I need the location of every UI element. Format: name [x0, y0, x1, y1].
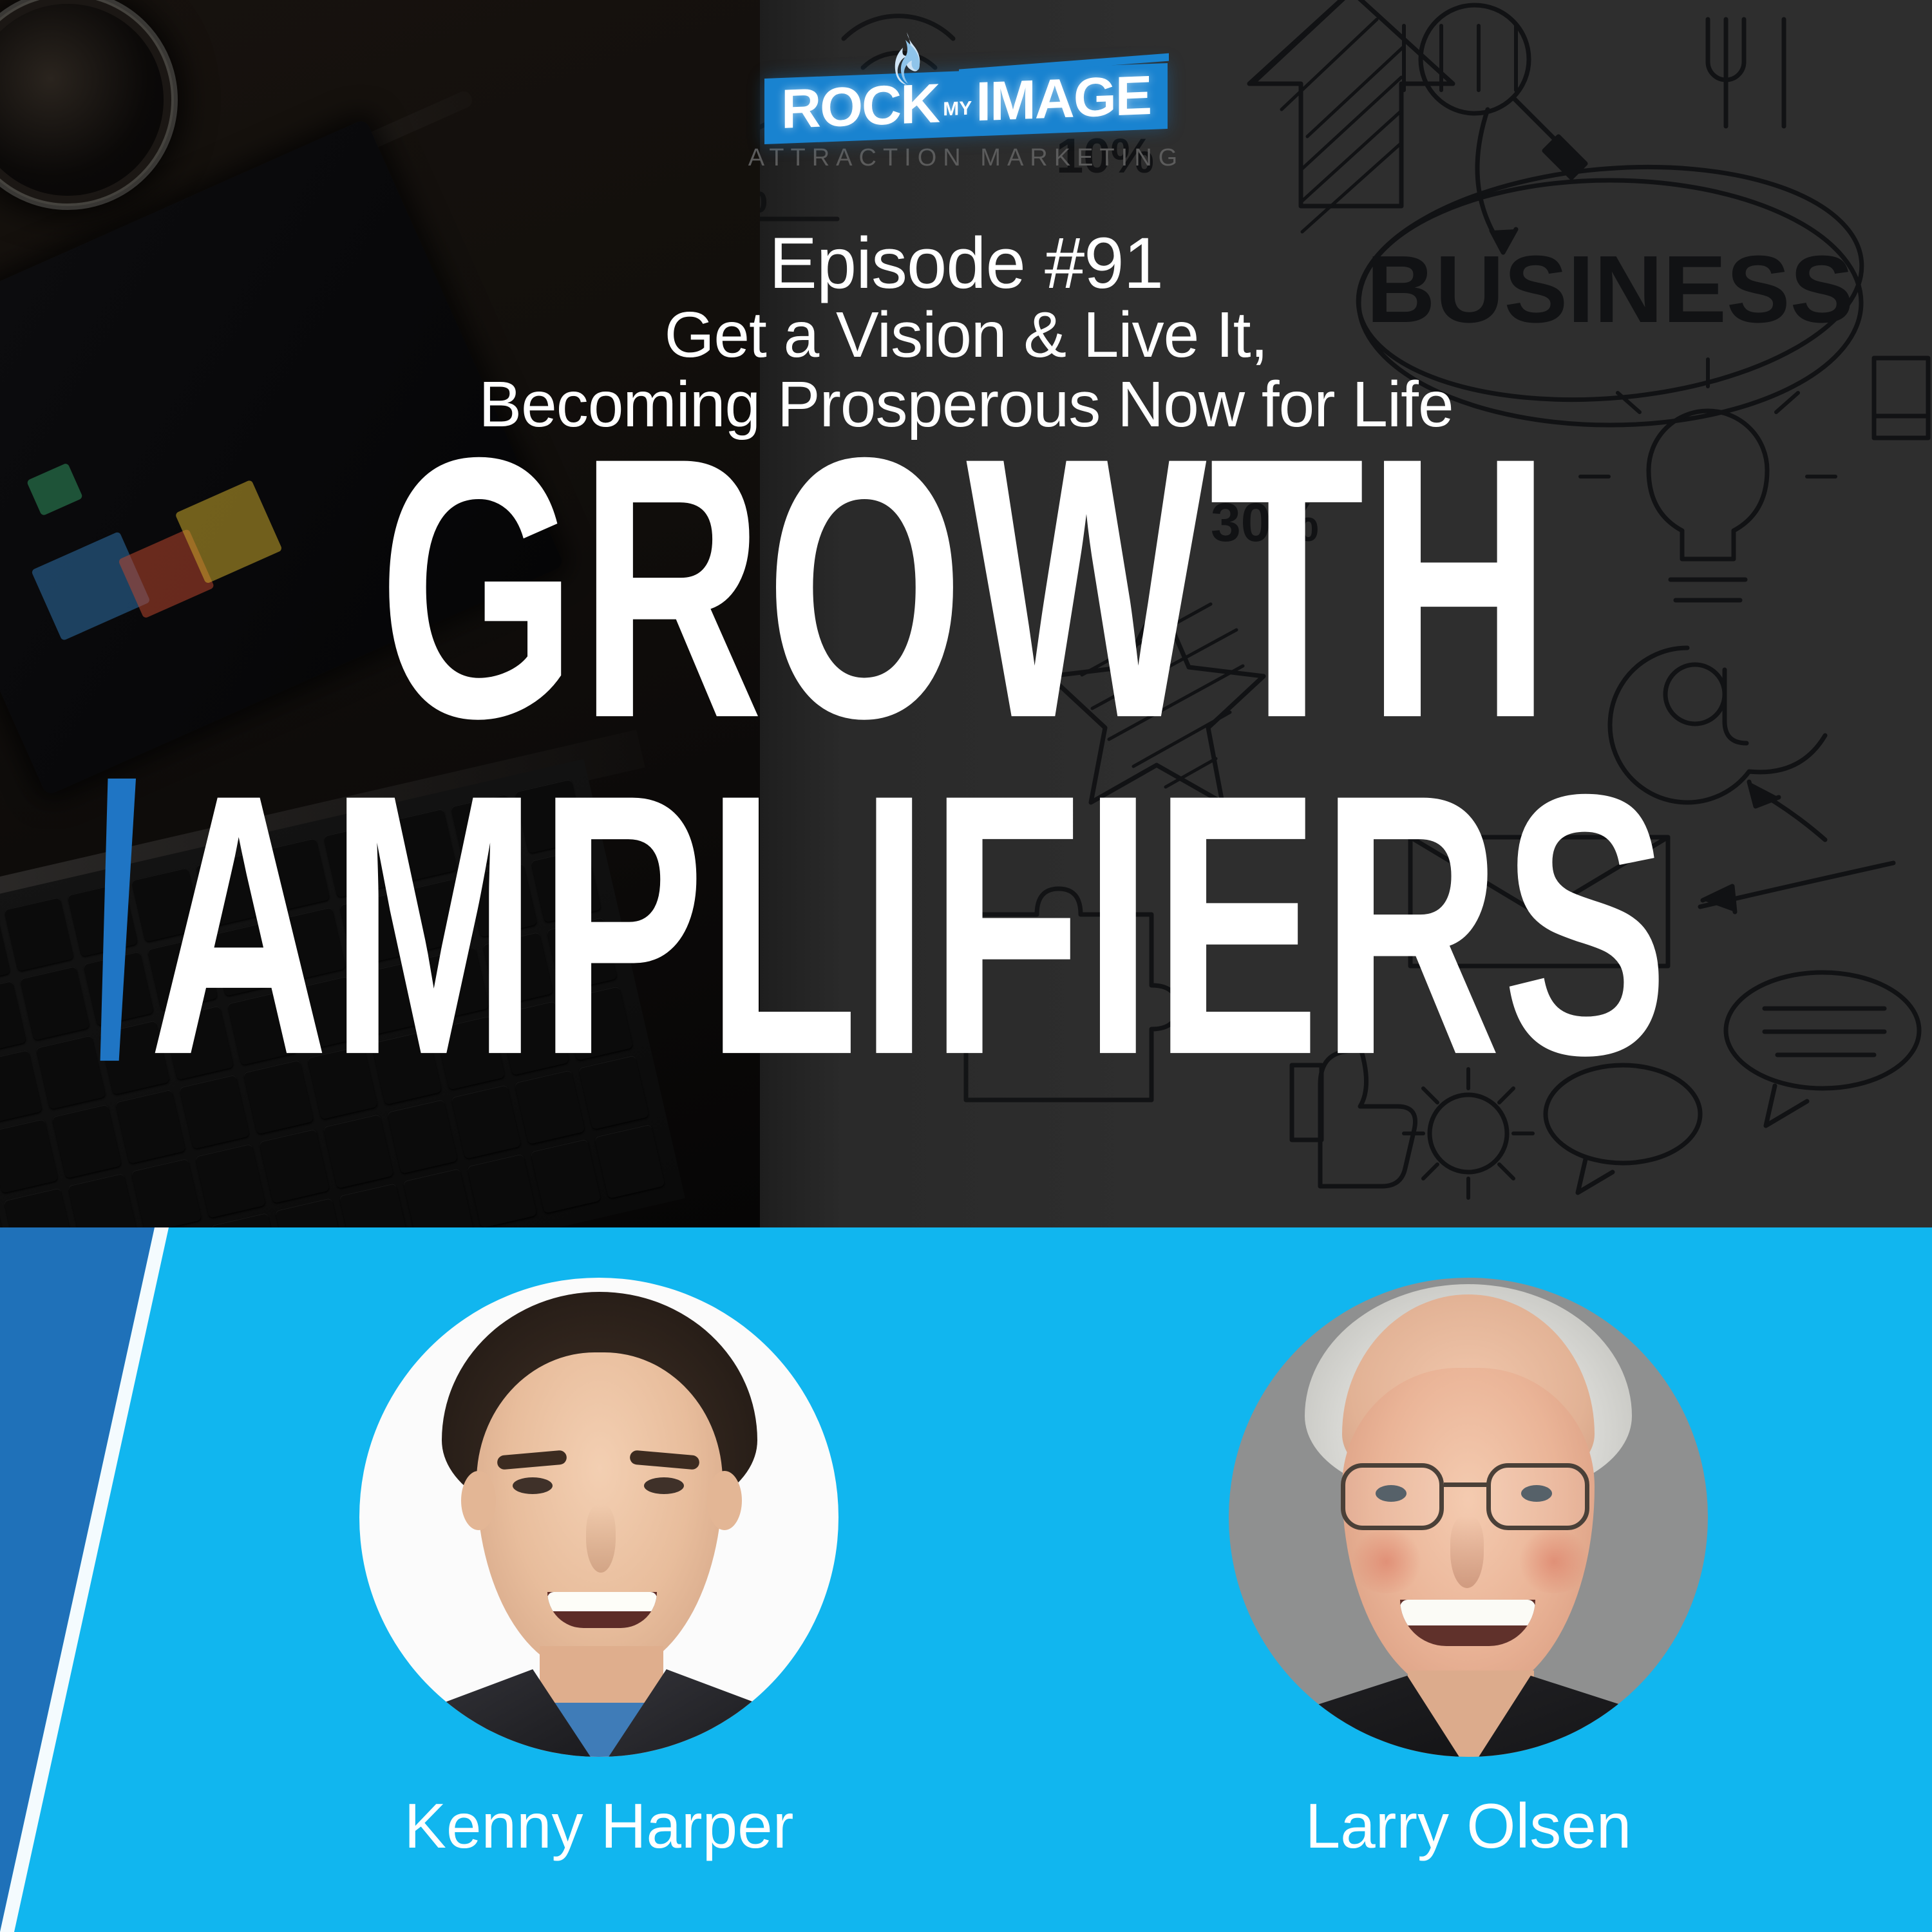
flame-icon: [885, 31, 926, 93]
eyeglasses-icon-left: [1341, 1463, 1444, 1530]
avatar-nose: [586, 1504, 616, 1573]
episode-title-line-1: Get a Vision & Live It,: [0, 300, 1932, 370]
avatar-eye-left: [513, 1477, 553, 1494]
guest-card-guest: Larry Olsen: [1159, 1278, 1777, 1857]
show-title-growth: GROWTH: [77, 444, 1855, 734]
guest-card-host: Kenny Harper: [290, 1278, 908, 1857]
host-avatar: [359, 1278, 838, 1757]
episode-number: Episode #91: [0, 227, 1932, 300]
eyeglasses-icon-right: [1486, 1463, 1589, 1530]
guest-avatar: [1229, 1278, 1708, 1757]
logo-word-my: MY: [940, 99, 974, 131]
accent-slash-icon: [93, 779, 136, 1061]
avatar-nose: [1450, 1516, 1484, 1588]
avatar-ear-right: [707, 1471, 742, 1530]
brand-tagline: ATTRACTION MARKETING: [748, 144, 1184, 172]
avatar-teeth: [547, 1592, 657, 1611]
avatar-teeth: [1400, 1600, 1535, 1625]
show-title-amplifiers: AMPLIFIERS: [149, 781, 1670, 1070]
brand-logo: ROCK MY IMAGE ATTRACTION MARKETING: [0, 31, 1932, 172]
logo-word-image: IMAGE: [976, 68, 1151, 129]
hero-panel: BUSINESS 20% 10% 30%: [0, 0, 1932, 1227]
guest-name-host: Kenny Harper: [290, 1794, 908, 1857]
show-title: GROWTH AMPLIFIERS: [0, 444, 1932, 1058]
guest-name-guest: Larry Olsen: [1159, 1794, 1777, 1857]
guest-panel: Kenny Harper L: [0, 1227, 1932, 1932]
avatar-eye-right: [644, 1477, 684, 1494]
avatar-ear-left: [461, 1471, 496, 1530]
eyeglasses-bridge: [1444, 1482, 1490, 1487]
podcast-episode-cover: BUSINESS 20% 10% 30%: [0, 0, 1932, 1932]
brand-logo-bar: ROCK MY IMAGE: [764, 63, 1168, 144]
avatar-cheek-left: [1349, 1530, 1425, 1593]
show-title-amplifiers-row: AMPLIFIERS: [0, 781, 1932, 1058]
brand-logo-text: ROCK MY IMAGE: [781, 68, 1151, 137]
avatar-cheek-right: [1516, 1530, 1592, 1593]
